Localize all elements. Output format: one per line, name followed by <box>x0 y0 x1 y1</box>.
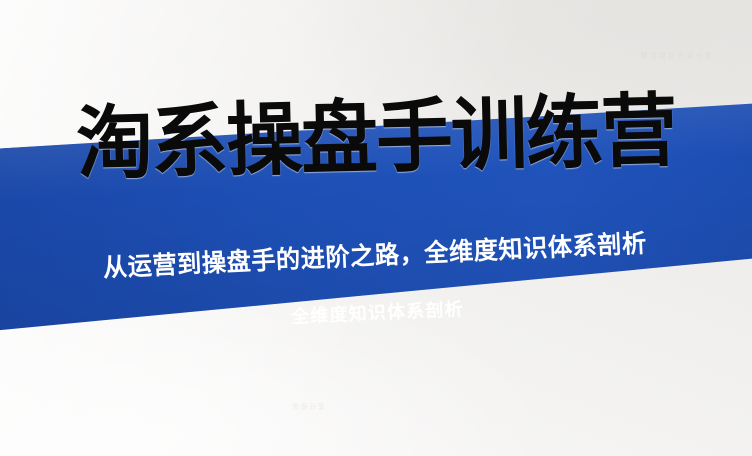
watermark-top-right: 赚钱项目资源分享 <box>640 51 714 61</box>
poster-title: 淘系操盘手训练营 <box>0 87 752 187</box>
watermark-bottom-center: 资源分享 <box>292 402 326 412</box>
poster-title-text: 淘系操盘手训练营 <box>76 89 677 186</box>
course-poster: 赚钱项目资源分享 淘系操盘手训练营 从运营到操盘手的进阶之路，全维度知识体系剖析… <box>0 0 752 456</box>
